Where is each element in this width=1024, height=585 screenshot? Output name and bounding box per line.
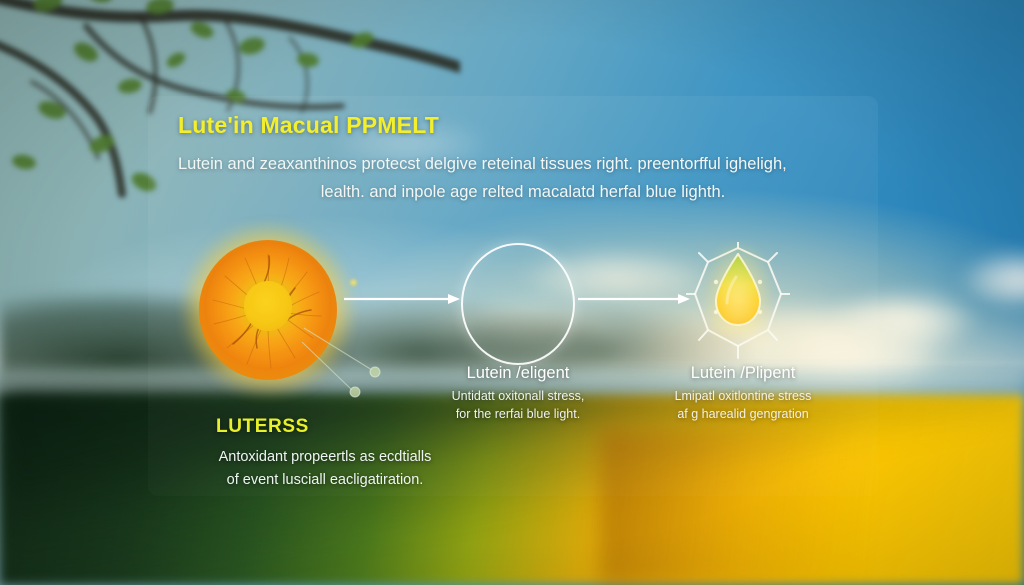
promo-infographic: Lute'in Macual PPMELT Lutein and zeaxant… <box>0 0 1024 585</box>
node-caption-lutein-ring: Lutein /eligent Untidatt oxitonall stres… <box>418 362 618 423</box>
kicker-body-line-2: of event lusciall eacligatiration. <box>160 469 490 492</box>
caption-title: Lutein /eligent <box>418 362 618 384</box>
macula-center <box>244 281 292 331</box>
process-diagram: Lutein /eligent Untidatt oxitonall stres… <box>0 0 1024 585</box>
caption-title: Lutein /Plipent <box>638 362 848 384</box>
droplet-glow <box>705 244 771 336</box>
kicker-title: LUTERSS <box>216 416 309 438</box>
caption-body-line-1: Untidatt oxitonall stress, <box>418 387 618 405</box>
caption-body: Untidatt oxitonall stress, for the rerfa… <box>418 387 618 423</box>
caption-body: Lmipatl oxitlontine stress af g harealid… <box>638 387 848 423</box>
arrow-right-icon <box>344 292 460 306</box>
caption-body-line-1: Lmipatl oxitlontine stress <box>638 387 848 405</box>
kicker-body: Antoxidant propeertls as ecdtialls of ev… <box>160 446 490 492</box>
arrow-right-icon <box>578 292 690 306</box>
node-caption-lutein-molecule: Lutein /Plipent Lmipatl oxitlontine stre… <box>638 362 848 423</box>
light-spark-icon <box>349 278 358 287</box>
leader-lines-icon <box>300 318 410 408</box>
empty-circle-icon <box>461 243 575 365</box>
caption-body-line-2: af g harealid gengration <box>638 405 848 423</box>
kicker-body-line-1: Antoxidant propeertls as ecdtialls <box>160 446 490 469</box>
caption-body-line-2: for the rerfai blue light. <box>418 405 618 423</box>
droplet-icon <box>714 253 762 327</box>
